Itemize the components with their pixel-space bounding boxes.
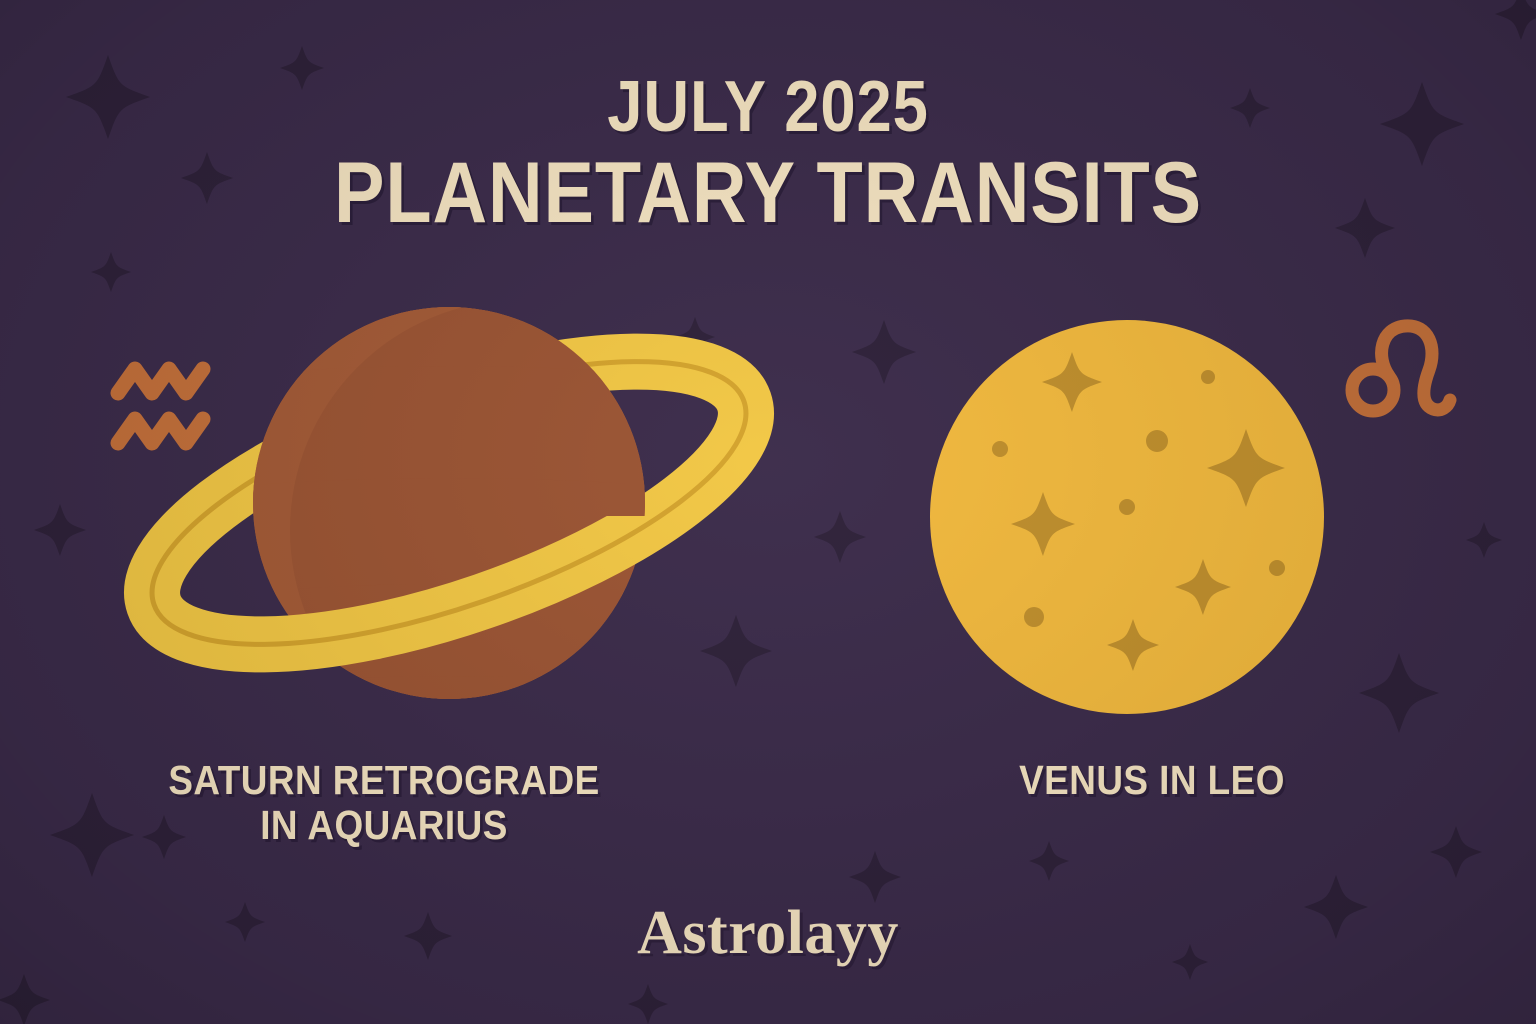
venus-dot: [1201, 370, 1215, 384]
title-line-2: PLANETARY TRANSITS: [92, 151, 1444, 235]
poster-title: JULY 2025 PLANETARY TRANSITS: [0, 72, 1536, 235]
venus-caption: VENUS IN LEO: [806, 758, 1497, 803]
venus-dot: [1024, 607, 1044, 627]
saturn-caption: SATURN RETROGRADE IN AQUARIUS: [38, 758, 729, 848]
leo-glyph: [1345, 312, 1457, 424]
brand-name: Astrolayy: [637, 899, 899, 967]
venus-dot: [1269, 560, 1285, 576]
venus-caption-line-1: VENUS IN LEO: [806, 758, 1497, 803]
saturn-planet: [110, 280, 810, 730]
title-line-1: JULY 2025: [92, 72, 1444, 143]
venus-dot: [1119, 499, 1135, 515]
venus-planet: [928, 310, 1348, 730]
saturn-caption-line-1: SATURN RETROGRADE: [38, 758, 729, 803]
venus-dot: [1146, 430, 1168, 452]
poster-canvas: JULY 2025 PLANETARY TRANSITS: [0, 0, 1536, 1024]
venus-dot: [992, 441, 1008, 457]
brand-wordmark: Astrolayy: [0, 898, 1536, 969]
saturn-caption-line-2: IN AQUARIUS: [38, 803, 729, 848]
